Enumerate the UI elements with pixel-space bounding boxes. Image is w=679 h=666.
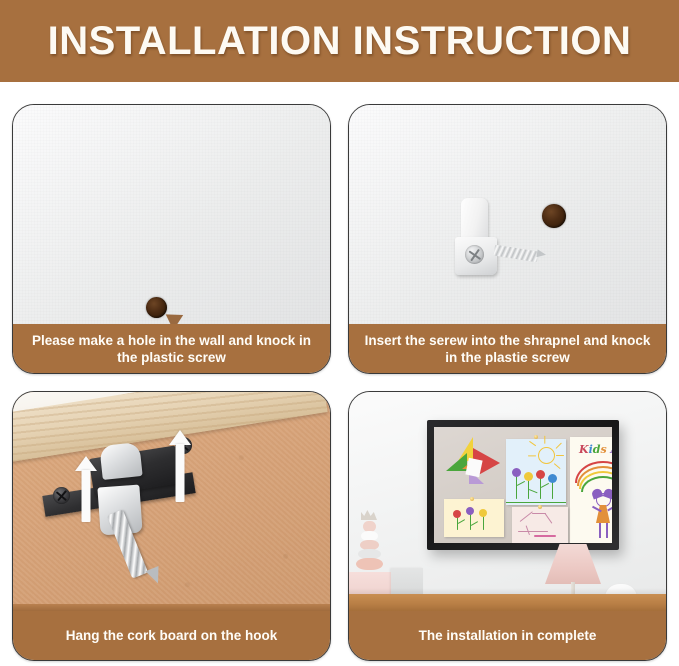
screw-tip (536, 249, 546, 258)
pencil-sketch-card (512, 507, 568, 543)
sun-icon (538, 447, 555, 464)
child-figure (586, 489, 612, 539)
steps-grid: Please make a hole in the wall and knock… (12, 104, 667, 660)
step-2-scene (349, 105, 666, 324)
flower-sticky-note (444, 499, 504, 537)
wall-surface (13, 105, 330, 324)
header-banner: INSTALLATION INSTRUCTION (0, 0, 679, 82)
stacking-ring-toy (355, 510, 383, 574)
step-panel-1: Please make a hole in the wall and knock… (12, 104, 331, 374)
up-arrow-left (75, 456, 97, 522)
step-2-caption: Insert the serew into the shrapnel and k… (349, 324, 666, 373)
installation-instruction-sheet: INSTALLATION INSTRUCTION (0, 0, 679, 666)
silver-hook-tongue (99, 442, 142, 480)
cork-board-surface: Kids Art (434, 427, 612, 543)
wood-floor (349, 594, 666, 611)
page-title: INSTALLATION INSTRUCTION (48, 21, 632, 61)
phillips-screw-head (465, 245, 484, 264)
step-panel-2: Insert the serew into the shrapnel and k… (348, 104, 667, 374)
up-arrow-right (169, 430, 191, 502)
pin (470, 497, 474, 501)
crown-icon (361, 510, 377, 520)
step-4-caption: The installation in complete (349, 611, 666, 660)
origami-butterfly (446, 437, 504, 487)
step-3-scene (13, 392, 330, 611)
step-3-caption: Hang the cork board on the hook (13, 611, 330, 660)
framed-cork-board: Kids Art (427, 420, 619, 550)
kids-art-drawing: Kids Art (570, 437, 612, 543)
plate-screw-left (53, 487, 70, 504)
pin (538, 505, 542, 509)
pin (534, 435, 538, 439)
wall-surface (349, 105, 666, 324)
step-4-scene: Kids Art (349, 392, 666, 611)
step-1-scene (13, 105, 330, 324)
step-panel-4: Kids Art (348, 391, 667, 661)
cork-bottom-edge (13, 604, 330, 611)
step-panel-3: Hang the cork board on the hook (12, 391, 331, 661)
sun-flowers-drawing (506, 439, 566, 505)
drill-hole (542, 204, 566, 228)
kids-art-label: Kids Art (579, 443, 612, 456)
step-1-caption: Please make a hole in the wall and knock… (13, 324, 330, 373)
